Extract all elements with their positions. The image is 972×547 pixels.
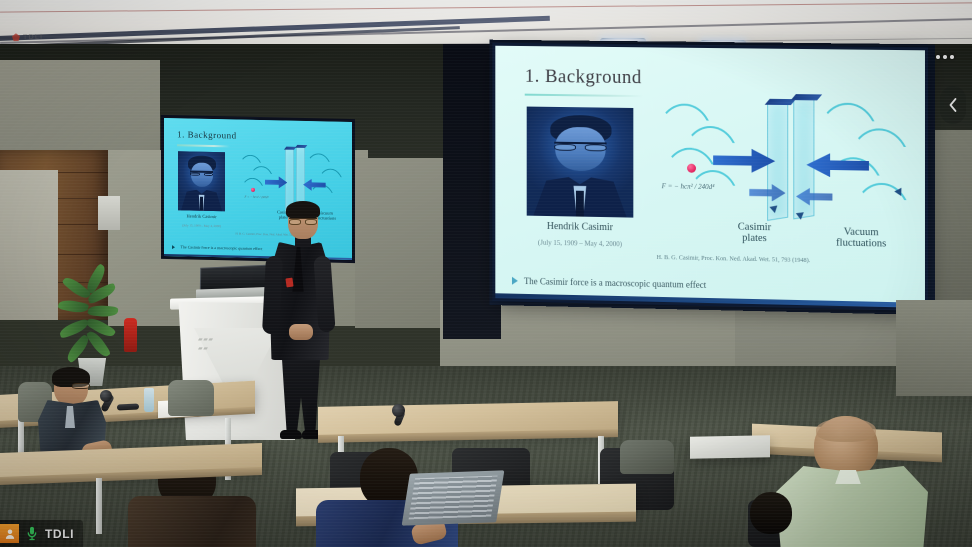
room-logo-text: TDLI (23, 33, 44, 40)
label-vacuum-fluctuations: Vacuum fluctuations (817, 226, 906, 251)
microphone-head (392, 404, 405, 417)
fire-extinguisher (124, 318, 137, 352)
person-icon (0, 524, 19, 543)
label-casimir-plates: Casimir plates (718, 221, 790, 245)
collapse-panel-button[interactable] (940, 86, 966, 124)
presenter-badge (285, 278, 293, 288)
slide-title-rule (525, 94, 644, 98)
casimir-diagram: F = − ħcπ² / 240d⁴ Casimir plates Vacuum… (657, 91, 917, 254)
slide-citation: H. B. G. Casimir, Proc. Kon. Ned. Akad. … (657, 254, 908, 266)
slide-formula: F = − ħcπ² / 240d⁴ (244, 194, 268, 199)
wall-panel (0, 170, 58, 320)
audience-chair (168, 380, 214, 416)
bullet-text: The Casimir force is a macroscopic quant… (181, 244, 263, 251)
table-leg (96, 478, 102, 534)
microphone-body (117, 403, 139, 410)
bullet-triangle-icon (172, 245, 175, 249)
main-projection-screen[interactable]: 1. Background Hendrik Casimir (July 15, … (495, 46, 925, 308)
slide-formula: F = − ħcπ² / 240d⁴ (662, 182, 715, 191)
audience-chair-back (620, 440, 674, 474)
water-bottle (144, 388, 154, 412)
more-dot (950, 55, 954, 59)
bullet-text: The Casimir force is a macroscopic quant… (524, 276, 706, 290)
participant-label: TDLI (45, 527, 74, 541)
audience-laptop (402, 470, 505, 525)
slide-title: 1. Background (525, 66, 642, 89)
ceiling-beam (0, 16, 550, 42)
wall-outlet-panel (98, 196, 120, 230)
audience-member (744, 492, 814, 547)
video-stream-viewport: TDLI 1. Background (0, 0, 972, 547)
slide-title-rule (177, 144, 230, 147)
microphone-icon (25, 525, 39, 543)
more-options-button[interactable] (932, 49, 958, 65)
portrait-caption: Hendrik Casimir (172, 213, 232, 219)
more-dot (936, 55, 940, 59)
ceiling-seam (0, 2, 972, 12)
slide-title: 1. Background (177, 129, 237, 140)
more-dot (943, 55, 947, 59)
room-logo-watermark: TDLI (12, 33, 44, 42)
slide-main: 1. Background Hendrik Casimir (July 15, … (495, 46, 925, 308)
podium-logo: ▰▰▰▰▰ (198, 336, 214, 354)
wall-partition (896, 300, 972, 396)
slide-bullet: The Casimir force is a macroscopic quant… (512, 276, 907, 295)
participant-name-badge[interactable]: TDLI (0, 520, 83, 547)
casimir-portrait (178, 151, 225, 211)
logo-mark-icon (12, 33, 20, 41)
portrait-dates: (July 15, 1909 – May 4, 2000) (172, 223, 232, 228)
casimir-portrait (527, 107, 633, 218)
ceiling: TDLI (0, 0, 972, 46)
portrait-caption: Hendrik Casimir (512, 220, 648, 234)
bullet-triangle-icon (512, 277, 518, 285)
side-table (690, 435, 770, 458)
portrait-dates: (July 15, 1909 – May 4, 2000) (512, 238, 648, 249)
chevron-left-icon (947, 97, 959, 113)
